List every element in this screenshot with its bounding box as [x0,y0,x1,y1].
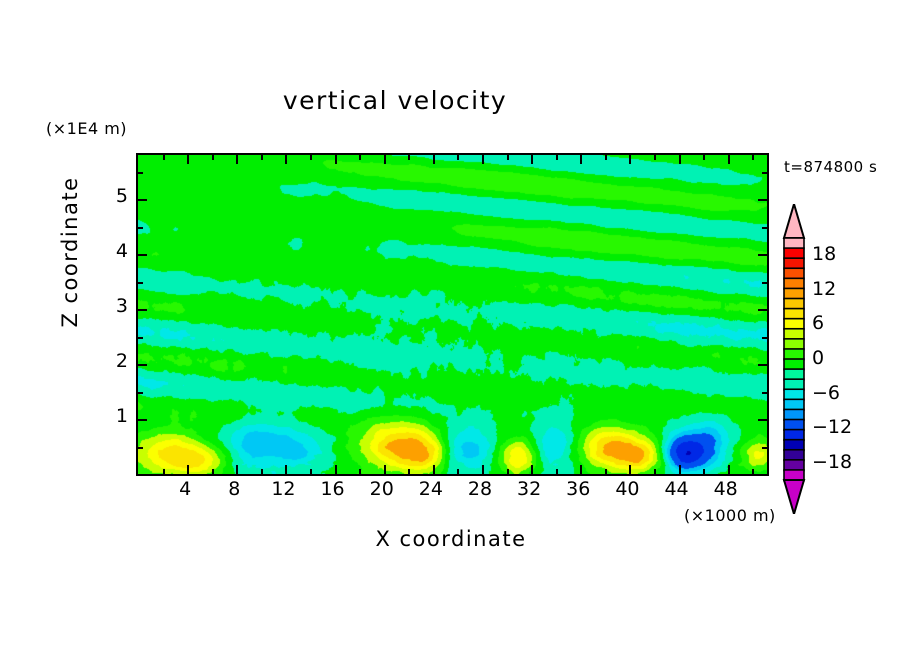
y-axis-tick-minor-right [762,282,767,284]
colorbar-swatch [784,440,804,451]
x-axis-tick-minor-top [752,155,754,160]
x-axis-tick-major-top [629,155,631,164]
x-axis-tick-minor [556,469,558,474]
x-axis-tick-minor-top [359,155,361,160]
colorbar-swatch [784,450,804,461]
x-axis-tick-minor-top [457,155,459,160]
colorbar-ticklabel: 12 [812,278,836,300]
x-axis-tick-minor-top [408,155,410,160]
x-axis-tick-major [629,465,631,474]
colorbar-swatch [784,470,804,481]
x-axis-tick-minor [752,469,754,474]
x-axis-tick-major [285,465,287,474]
x-axis-tick-major [187,465,189,474]
colorbar-ticklabel: −12 [812,416,852,438]
y-axis-tick-minor-right [762,227,767,229]
colorbar-over-cap [784,204,804,238]
y-axis-tick-major [138,254,147,256]
y-axis-tick-major [138,309,147,311]
colorbar-ticklabel: −18 [812,451,852,473]
x-axis-tick-minor-top [212,155,214,160]
x-axis-tick-minor [408,469,410,474]
colorbar [781,204,807,514]
y-axis-tick-minor [138,392,143,394]
x-axis-tick-major-top [679,155,681,164]
x-axis-tick-minor-top [556,155,558,160]
colorbar-swatch [784,278,804,289]
y-axis-tick-minor-right [762,337,767,339]
x-axis-tick-minor-top [703,155,705,160]
x-axis-tick-major-top [433,155,435,164]
x-axis-title: X coordinate [136,527,766,551]
colorbar-swatch [784,238,804,249]
y-axis-tick-minor [138,282,143,284]
colorbar-swatch [784,258,804,269]
contour-field [138,155,767,474]
colorbar-swatch [784,288,804,299]
colorbar-ticklabel: −6 [812,382,840,404]
x-axis-tick-minor-top [261,155,263,160]
y-axis-tick-minor [138,447,143,449]
x-axis-tick-minor [654,469,656,474]
y-axis-ticklabel: 2 [88,350,128,372]
x-axis-tick-minor [261,469,263,474]
x-axis-tick-minor [310,469,312,474]
x-axis-tick-major-top [482,155,484,164]
y-axis-tick-major-right [758,364,767,366]
colorbar-swatch [784,420,804,431]
y-axis-tick-minor [138,227,143,229]
colorbar-swatch [784,329,804,340]
colorbar-swatch [784,389,804,400]
colorbar-ticklabel: 6 [812,312,824,334]
x-axis-tick-major-top [236,155,238,164]
x-axis-tick-minor [703,469,705,474]
y-axis-ticklabel: 1 [88,405,128,427]
colorbar-swatches [781,204,807,514]
colorbar-swatch [784,349,804,360]
x-axis-tick-major-top [728,155,730,164]
x-axis-unit-label: (×1000 m) [684,506,776,525]
colorbar-swatch [784,319,804,330]
y-axis-tick-minor [138,337,143,339]
y-axis-tick-major-right [758,309,767,311]
x-axis-tick-minor [457,469,459,474]
contour-plot-area [136,153,769,476]
x-axis-tick-minor [605,469,607,474]
y-axis-title: Z coordinate [58,152,82,352]
x-axis-tick-major [679,465,681,474]
x-axis-tick-major-top [580,155,582,164]
y-axis-tick-minor-right [762,172,767,174]
y-axis-ticklabel: 4 [88,240,128,262]
y-axis-tick-major-right [758,199,767,201]
colorbar-swatch [784,430,804,441]
x-axis-tick-minor-top [163,155,165,160]
colorbar-swatch [784,399,804,410]
x-axis-tick-major-top [335,155,337,164]
x-axis-tick-minor-top [507,155,509,160]
colorbar-swatch [784,369,804,380]
colorbar-ticklabel: 0 [812,347,824,369]
time-annotation: t=874800 s [784,158,877,176]
x-axis-tick-minor-top [654,155,656,160]
y-axis-tick-minor-right [762,392,767,394]
colorbar-swatch [784,379,804,390]
x-axis-tick-major [580,465,582,474]
colorbar-ticklabel: 18 [812,243,836,265]
y-axis-ticklabel: 5 [88,185,128,207]
colorbar-swatch [784,268,804,279]
x-axis-tick-minor [163,469,165,474]
x-axis-tick-major [236,465,238,474]
colorbar-swatch [784,309,804,320]
y-axis-unit-label: (×1E4 m) [46,119,127,138]
colorbar-swatch [784,339,804,350]
x-axis-tick-minor [359,469,361,474]
colorbar-swatch [784,299,804,310]
y-axis-ticklabel: 3 [88,295,128,317]
colorbar-swatch [784,359,804,370]
y-axis-tick-major [138,199,147,201]
x-axis-tick-major [728,465,730,474]
colorbar-under-cap [784,480,804,514]
y-axis-tick-major [138,419,147,421]
x-axis-tick-major [335,465,337,474]
x-axis-tick-minor-top [310,155,312,160]
y-axis-tick-major-right [758,254,767,256]
colorbar-swatch [784,409,804,420]
x-axis-tick-major-top [384,155,386,164]
x-axis-tick-minor [507,469,509,474]
colorbar-swatch [784,460,804,471]
x-axis-tick-major [433,465,435,474]
x-axis-tick-major-top [187,155,189,164]
x-axis-tick-major [384,465,386,474]
colorbar-swatch [784,248,804,259]
x-axis-tick-major-top [531,155,533,164]
x-axis-tick-minor [212,469,214,474]
y-axis-tick-major [138,364,147,366]
page-title: vertical velocity [0,86,790,115]
figure-canvas: vertical velocity (×1E4 m) (×1000 m) t=8… [0,0,904,654]
x-axis-tick-minor-top [605,155,607,160]
x-axis-tick-major [531,465,533,474]
y-axis-tick-minor-right [762,447,767,449]
y-axis-tick-major-right [758,419,767,421]
x-axis-tick-major [482,465,484,474]
y-axis-tick-minor [138,172,143,174]
x-axis-tick-major-top [285,155,287,164]
x-axis-ticklabel: 48 [696,478,756,500]
